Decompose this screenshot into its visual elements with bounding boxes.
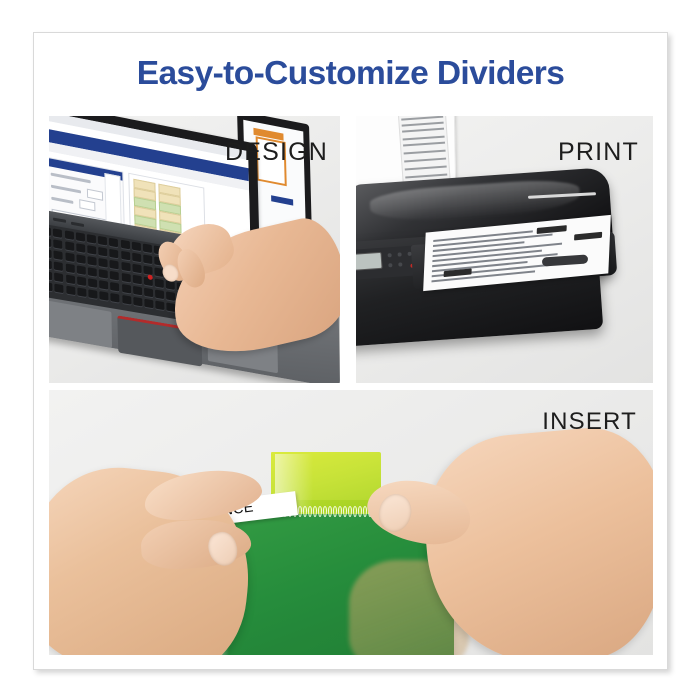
laptop-port — [53, 218, 66, 223]
product-image-canvas: Easy-to-Customize Dividers — [33, 32, 668, 670]
panel-insert: FINANCE INSERT — [49, 390, 653, 655]
panel-label-insert: INSERT — [542, 408, 637, 436]
secondary-screen-button — [271, 195, 293, 205]
panel-print: PRINT — [356, 116, 653, 383]
form-label — [51, 197, 73, 204]
form-input[interactable] — [79, 199, 95, 211]
form-input[interactable] — [87, 189, 103, 201]
lid-highlight — [369, 177, 581, 226]
printer-lcd-display — [356, 252, 383, 271]
panel-label-design: DESIGN — [225, 138, 328, 167]
laptop-port — [71, 222, 84, 227]
printed-tab-bar — [574, 232, 602, 241]
printer-button[interactable] — [388, 253, 392, 257]
form-label — [51, 185, 81, 193]
printer-button[interactable] — [398, 262, 402, 266]
page-title: Easy-to-Customize Dividers — [34, 55, 667, 93]
printer-button[interactable] — [388, 263, 392, 267]
printer-button[interactable] — [398, 252, 402, 256]
page-root: Easy-to-Customize Dividers — [0, 0, 700, 700]
form-label — [51, 173, 91, 183]
trackpoint-nub[interactable] — [148, 274, 153, 280]
panel-label-print: PRINT — [558, 138, 639, 167]
panel-design: DESIGN — [49, 116, 340, 383]
